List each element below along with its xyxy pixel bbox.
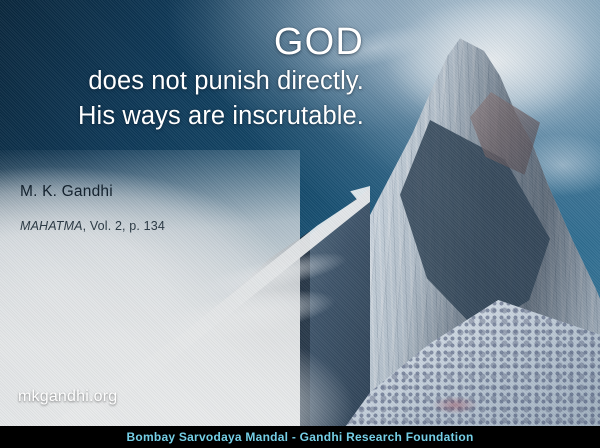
quote-line-2: does not punish directly. bbox=[0, 64, 364, 99]
quote-line-1: GOD bbox=[0, 20, 364, 64]
quote-text: GOD does not punish directly. His ways a… bbox=[0, 20, 364, 134]
author-name: M. K. Gandhi bbox=[20, 182, 165, 201]
footer-organization-text: Bombay Sarvodaya Mandal - Gandhi Researc… bbox=[126, 430, 473, 444]
source-work-title: MAHATMA bbox=[20, 219, 83, 233]
source-volume-page: , Vol. 2, p. 134 bbox=[83, 219, 165, 233]
gandhi-quote-poster: GOD does not punish directly. His ways a… bbox=[0, 0, 600, 448]
attribution: M. K. Gandhi MAHATMA, Vol. 2, p. 134 bbox=[20, 182, 165, 234]
site-url[interactable]: mkgandhi.org bbox=[18, 388, 117, 406]
footer-bar: Bombay Sarvodaya Mandal - Gandhi Researc… bbox=[0, 426, 600, 448]
quote-line-3: His ways are inscrutable. bbox=[0, 99, 364, 134]
source-citation: MAHATMA, Vol. 2, p. 134 bbox=[20, 218, 165, 234]
